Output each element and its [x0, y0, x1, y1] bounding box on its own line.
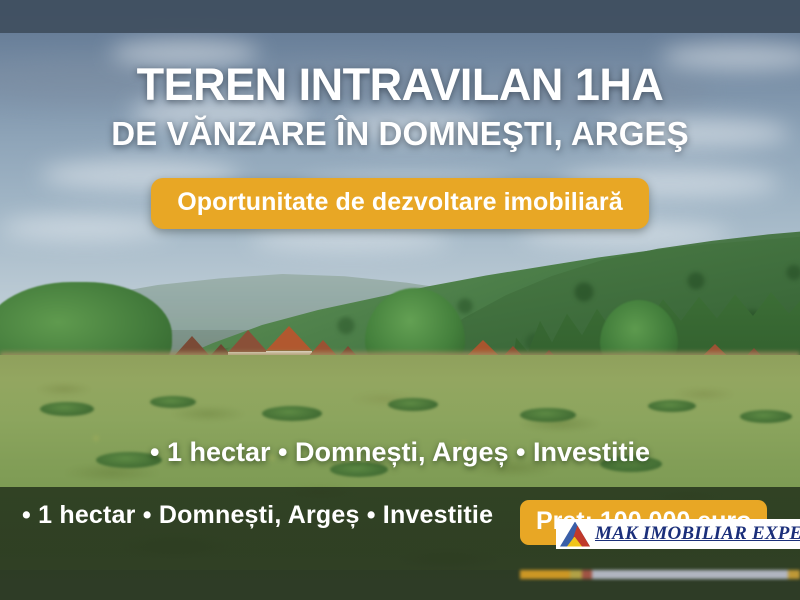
meadow-bush [520, 408, 576, 422]
meadow-bush [150, 396, 196, 408]
opportunity-badge-wrap: Oportunitate de dezvoltare imobiliară [0, 178, 800, 229]
real-estate-banner: TEREN INTRAVILAN 1HA DE VĂNZARE ÎN DOMNE… [0, 0, 800, 600]
meadow-bush [262, 406, 322, 421]
mountain-triangle-logo-icon [560, 522, 590, 547]
brand-name-label: MAK IMOBILIAR EXPERT [595, 523, 800, 545]
brand-logo-card[interactable]: MAK IMOBILIAR EXPERT [556, 519, 800, 549]
house-roof [228, 330, 268, 352]
top-shade-overlay [0, 0, 800, 33]
meadow-bush [388, 398, 438, 411]
meadow-bush [648, 400, 696, 412]
features-list-middle: • 1 hectar • Domnești, Argeș • Investiti… [0, 437, 800, 468]
badge-logo-sliver [520, 570, 800, 579]
opportunity-badge: Oportunitate de dezvoltare imobiliară [151, 178, 648, 229]
headline-secondary: DE VĂNZARE ÎN DOMNEŞTI, ARGEŞ [0, 115, 800, 154]
meadow-bush [740, 410, 792, 423]
cloud [250, 228, 450, 250]
meadow-bush [40, 402, 94, 416]
house-roof [266, 326, 312, 351]
features-list-bottom: • 1 hectar • Domnești, Argeș • Investiti… [22, 501, 493, 530]
headline-primary: TEREN INTRAVILAN 1HA [0, 62, 800, 109]
headline-block: TEREN INTRAVILAN 1HA DE VĂNZARE ÎN DOMNE… [0, 62, 800, 154]
